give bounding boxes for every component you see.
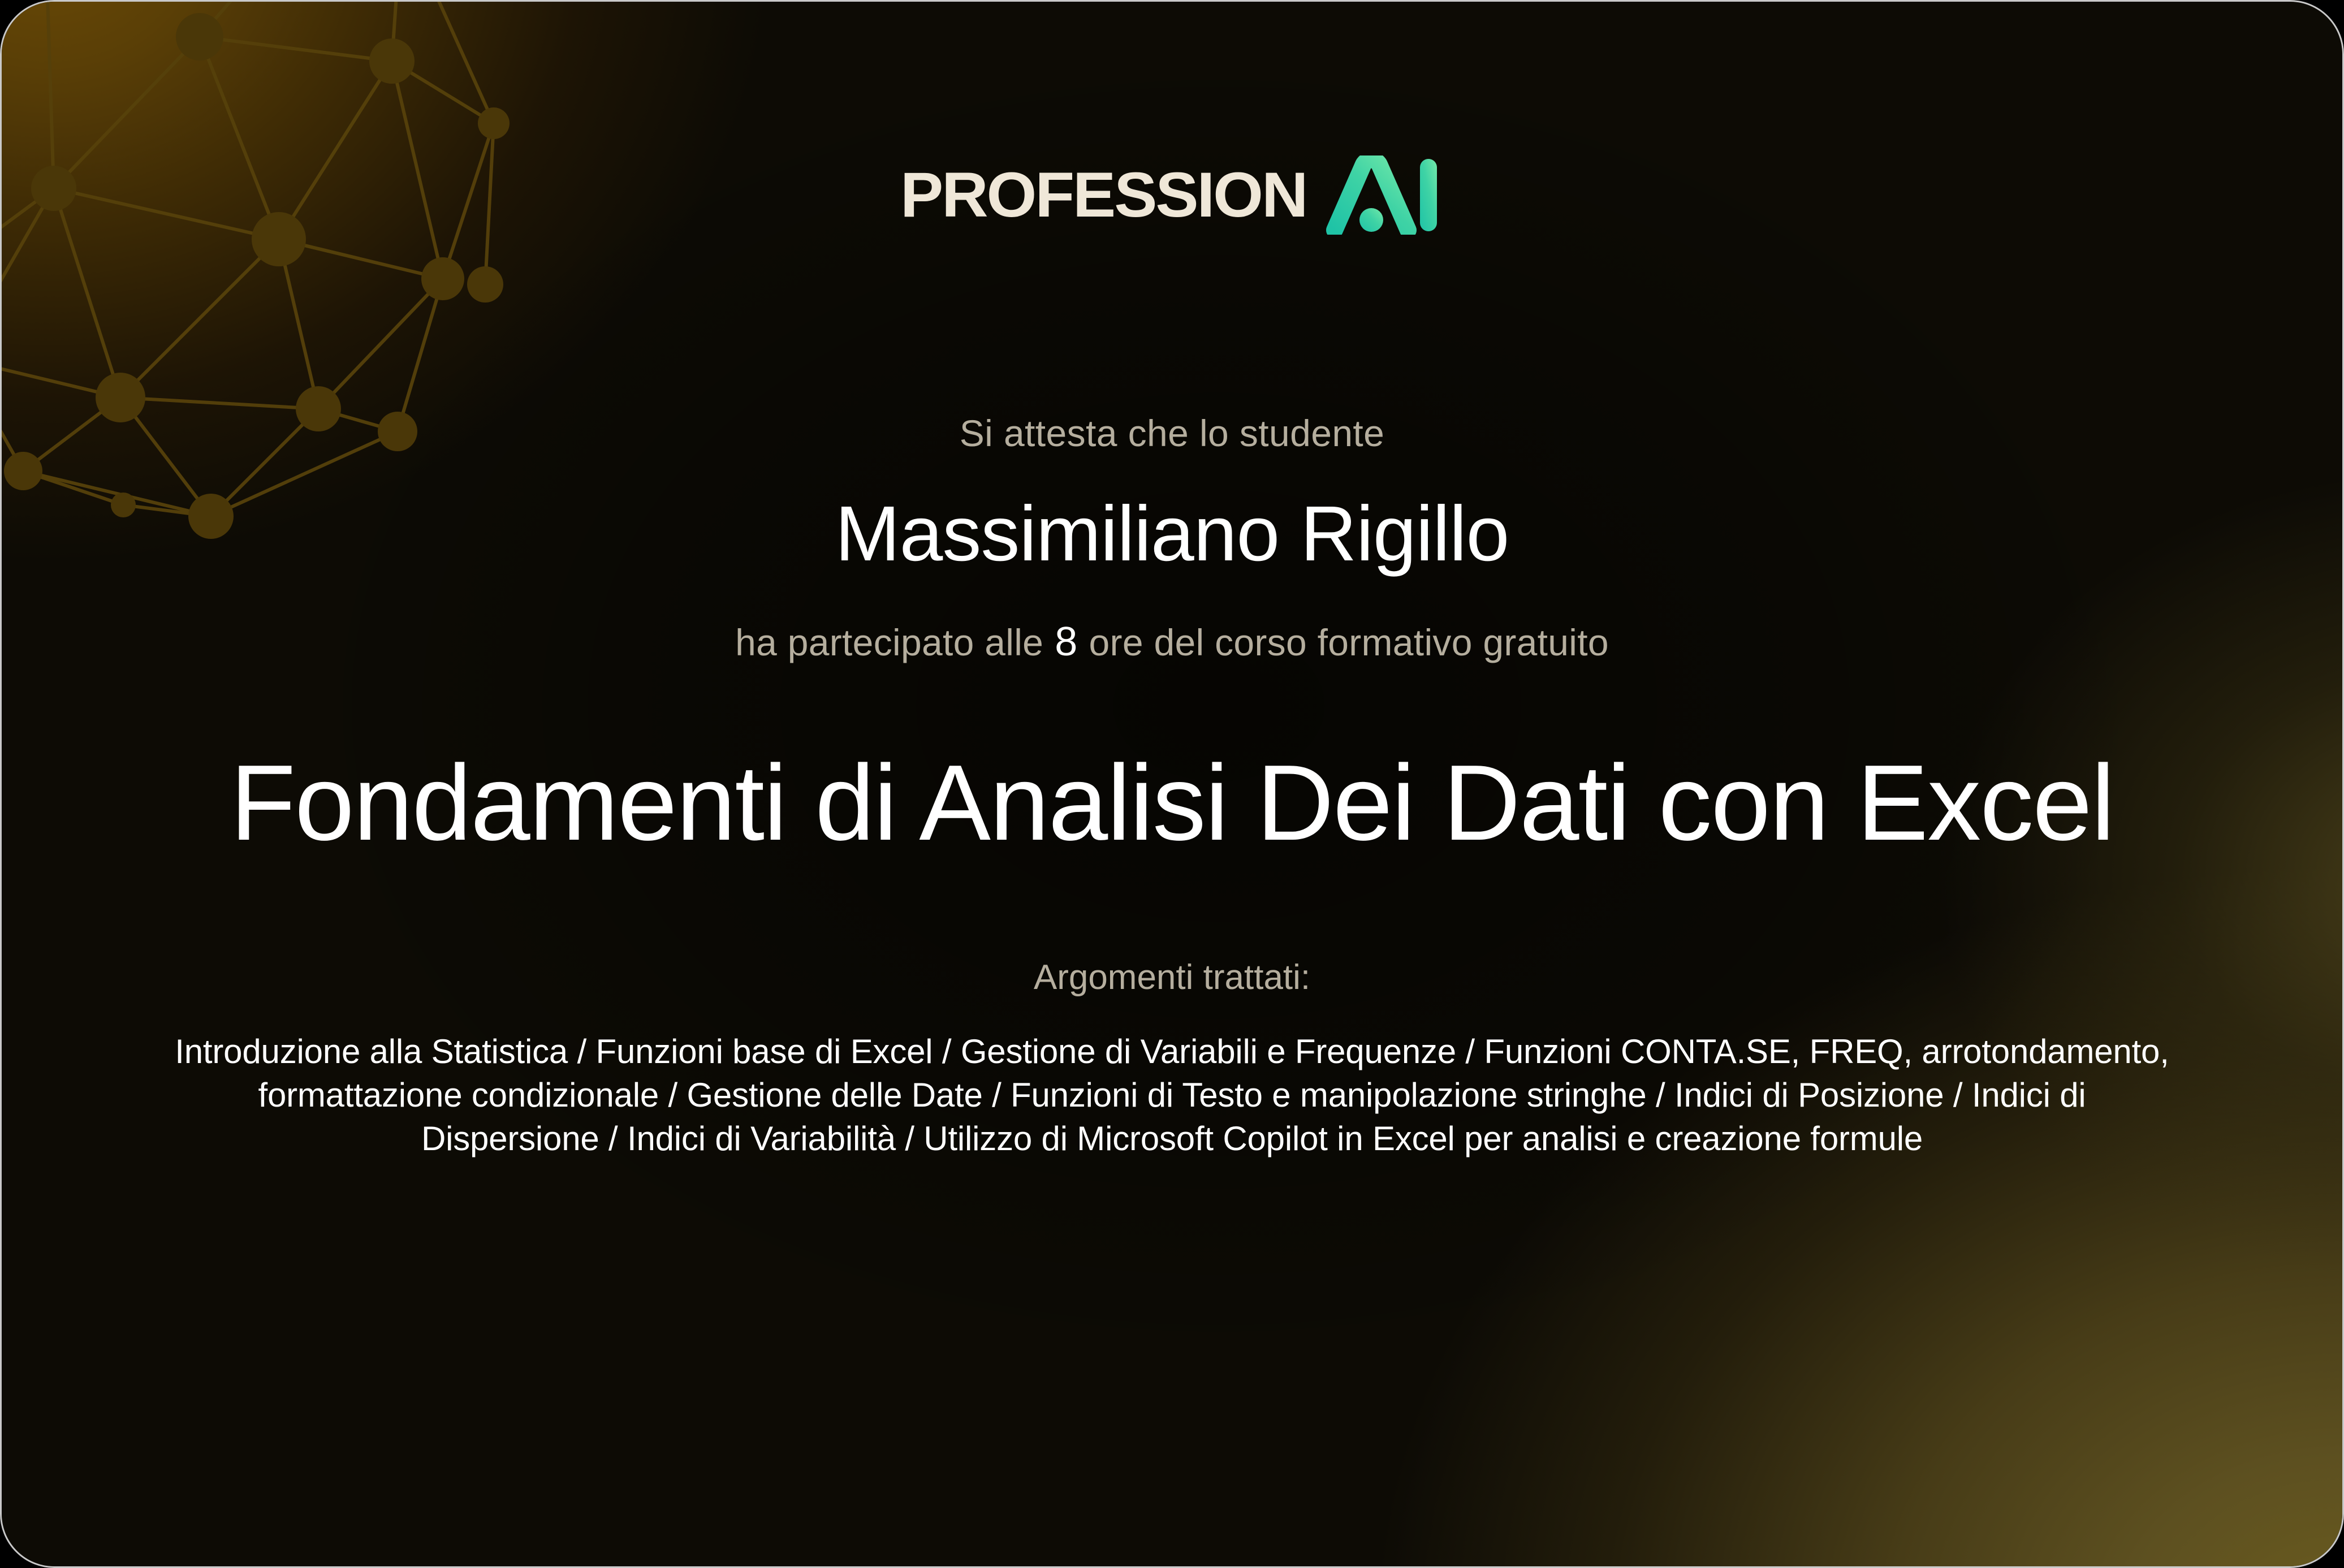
brand-logo: PROFESSION [904, 155, 1439, 235]
hours-suffix: ore del corso formativo gratuito [1089, 624, 1609, 661]
student-name: Massimiliano Rigillo [835, 491, 1509, 577]
topics-body: Introduzione alla Statistica / Funzioni … [166, 1030, 2179, 1160]
hours-value: 8 [1055, 621, 1077, 662]
topics-heading: Argomenti trattati: [1034, 960, 1310, 995]
logo-wordmark: PROFESSION [900, 163, 1306, 227]
hours-line: ha partecipato alle 8 ore del corso form… [735, 621, 1609, 662]
ai-logo-icon [1323, 155, 1440, 235]
attestation-line: Si attesta che lo studente [960, 414, 1385, 452]
course-title: Fondamenti di Analisi Dei Dati con Excel [151, 747, 2193, 860]
hours-prefix: ha partecipato alle [735, 624, 1043, 661]
certificate-card: PROFESSION Si attesta che lo studente Ma… [0, 0, 2344, 1568]
certificate-content: PROFESSION Si attesta che lo studente Ma… [2, 2, 2342, 1566]
